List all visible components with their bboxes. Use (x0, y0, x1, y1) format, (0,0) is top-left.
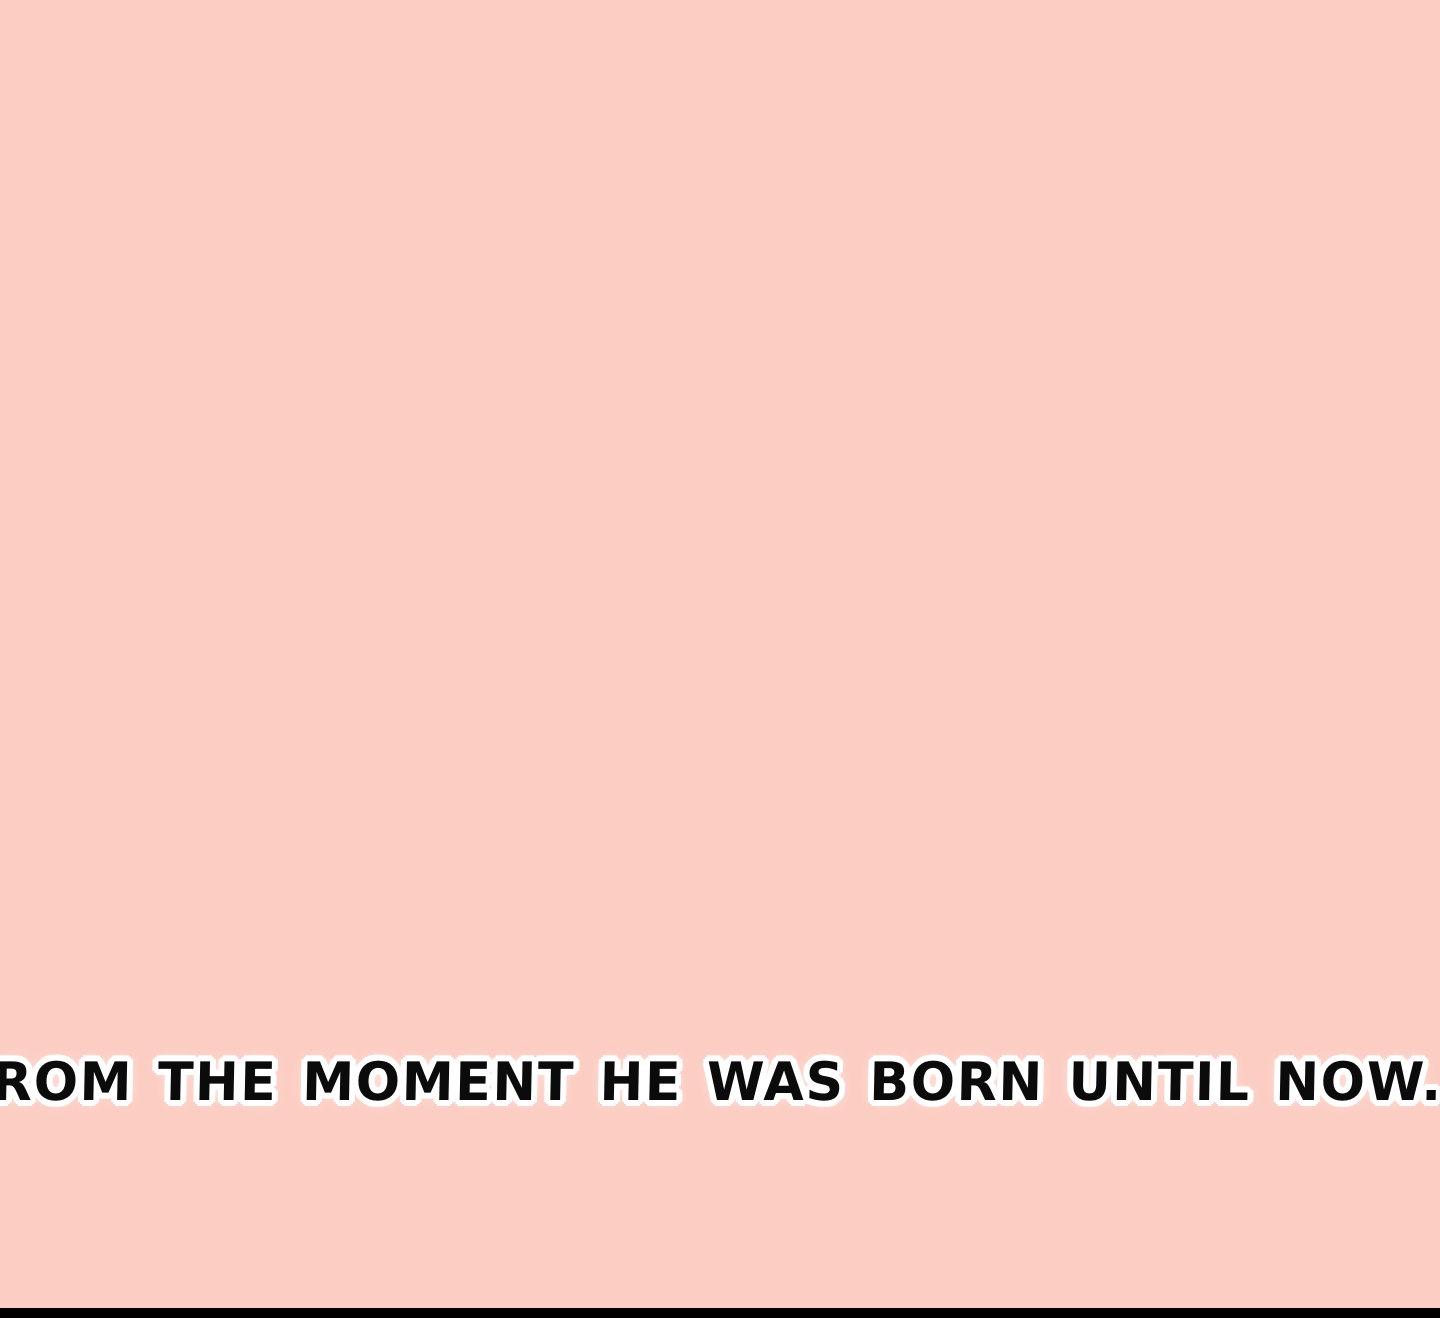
panel-bottom-divider (0, 1308, 1440, 1318)
panel-art-area (0, 0, 1440, 1030)
comic-panel: FROM THE MOMENT HE WAS BORN UNTIL NOW... (0, 0, 1440, 1318)
caption-container: FROM THE MOMENT HE WAS BORN UNTIL NOW... (0, 1038, 1440, 1128)
panel-caption-text: FROM THE MOMENT HE WAS BORN UNTIL NOW... (0, 1052, 1440, 1114)
